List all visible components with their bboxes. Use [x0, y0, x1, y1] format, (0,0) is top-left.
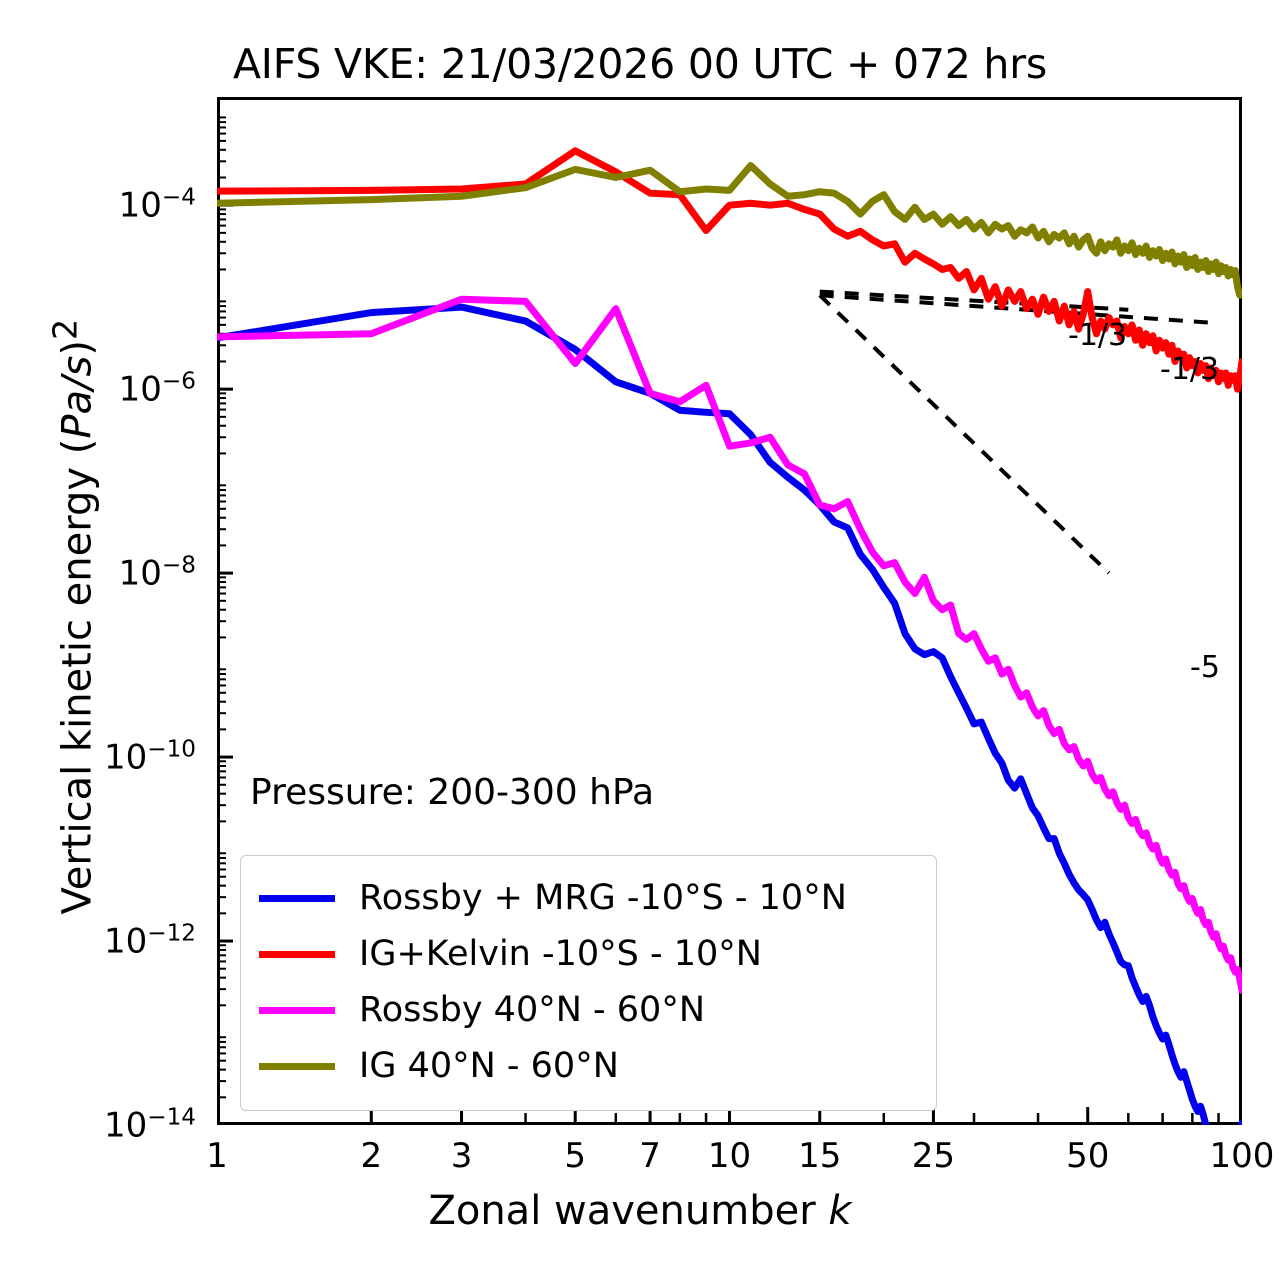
x-axis-title: Zonal wavenumber k: [0, 1188, 1280, 1234]
y-axis-title: Vertical kinetic energy (Pa/s)2: [45, 222, 100, 1012]
legend-color-swatch: [259, 1063, 335, 1070]
legend-item[interactable]: IG+Kelvin -10°S - 10°N: [259, 926, 918, 982]
y-axis-title-exponent: 2: [45, 319, 84, 340]
x-axis-tick-label: 10: [708, 1136, 751, 1176]
legend-color-swatch: [259, 1007, 335, 1014]
slope-minus-one-third-upper: -1/3: [1068, 318, 1127, 353]
x-axis-tick-label: 7: [639, 1136, 661, 1176]
x-axis-tick-label: 15: [798, 1136, 841, 1176]
x-axis-tick-label: 2: [360, 1136, 382, 1176]
x-axis-tick-label: 5: [564, 1136, 586, 1176]
x-axis-tick-label: 25: [912, 1136, 955, 1176]
legend: Rossby + MRG -10°S - 10°NIG+Kelvin -10°S…: [240, 855, 937, 1111]
legend-item-label: Rossby 40°N - 60°N: [359, 990, 705, 1030]
legend-item[interactable]: Rossby + MRG -10°S - 10°N: [259, 870, 918, 926]
legend-item[interactable]: IG 40°N - 60°N: [259, 1038, 918, 1094]
slope-minus-five: -5: [1190, 650, 1220, 685]
x-axis-title-prefix: Zonal wavenumber: [428, 1188, 828, 1234]
x-axis-tick-label: 1: [206, 1136, 228, 1176]
y-axis-tick-label: 10−12: [104, 920, 196, 961]
series-line: [217, 166, 1240, 296]
legend-color-swatch: [259, 951, 335, 958]
y-axis-tick-label: 10−8: [119, 552, 196, 593]
legend-item[interactable]: Rossby 40°N - 60°N: [259, 982, 918, 1038]
x-axis-title-symbol: k: [828, 1188, 851, 1234]
y-axis-tick-label: 10−6: [119, 368, 196, 409]
y-axis-title-unit: Pa/s: [55, 356, 101, 439]
y-axis-title-prefix: Vertical kinetic energy (: [55, 439, 101, 915]
chart-page: AIFS VKE: 21/03/2026 00 UTC + 072 hrs 10…: [0, 0, 1280, 1288]
pressure-annotation: Pressure: 200-300 hPa: [250, 772, 654, 813]
x-axis-tick-label: 3: [451, 1136, 473, 1176]
y-axis-tick-label: 10−4: [119, 185, 196, 226]
legend-item-label: Rossby + MRG -10°S - 10°N: [359, 878, 847, 918]
legend-color-swatch: [259, 895, 335, 902]
x-axis-tick-label: 100: [1210, 1136, 1275, 1176]
x-axis-tick-label: 50: [1066, 1136, 1109, 1176]
legend-item-label: IG+Kelvin -10°S - 10°N: [359, 934, 762, 974]
y-axis-tick-label: 10−14: [104, 1104, 196, 1145]
y-axis-tick-label: 10−10: [104, 736, 196, 777]
y-axis-title-suffix: ): [55, 340, 101, 356]
slope-minus-one-third-lower: -1/3: [1160, 352, 1219, 387]
legend-item-label: IG 40°N - 60°N: [359, 1046, 619, 1086]
